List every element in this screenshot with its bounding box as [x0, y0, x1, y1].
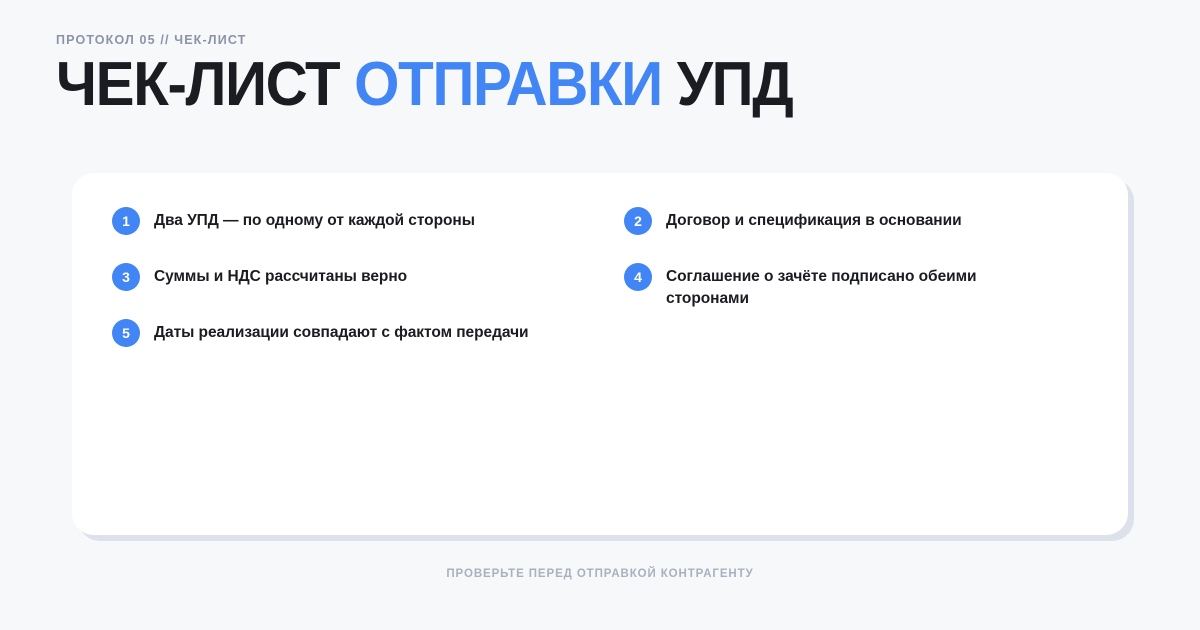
- title-part-one: ЧЕК-ЛИСТ: [56, 50, 354, 119]
- list-item-label: Два УПД — по одному от каждой стороны: [154, 205, 475, 232]
- list-item[interactable]: 2 Договор и спецификация в основании: [624, 205, 1088, 261]
- page-title: ЧЕК-ЛИСТ ОТПРАВКИ УПД: [56, 53, 1081, 117]
- eyebrow-label: ПРОТОКОЛ 05 // ЧЕК-ЛИСТ: [56, 34, 1146, 47]
- title-part-two: УПД: [662, 50, 793, 119]
- checklist-card: 1 Два УПД — по одному от каждой стороны …: [72, 173, 1128, 535]
- checklist-card-wrapper: 1 Два УПД — по одному от каждой стороны …: [72, 173, 1128, 535]
- list-item-label: Суммы и НДС рассчитаны верно: [154, 261, 407, 288]
- list-item[interactable]: 4 Соглашение о зачёте подписано обеими с…: [624, 261, 1088, 317]
- list-item[interactable]: 5 Даты реализации совпадают с фактом пер…: [112, 317, 576, 373]
- step-number-badge: 5: [112, 319, 140, 347]
- step-number-badge: 4: [624, 263, 652, 291]
- list-item[interactable]: 1 Два УПД — по одному от каждой стороны: [112, 205, 576, 261]
- list-item-label: Соглашение о зачёте подписано обеими сто…: [666, 261, 1061, 310]
- footer-note: ПРОВЕРЬТЕ ПЕРЕД ОТПРАВКОЙ КОНТРАГЕНТУ: [0, 569, 1200, 581]
- list-item-label: Договор и спецификация в основании: [666, 205, 962, 232]
- step-number-badge: 3: [112, 263, 140, 291]
- list-item-label: Даты реализации совпадают с фактом перед…: [154, 317, 529, 344]
- title-accent-word: ОТПРАВКИ: [354, 50, 662, 119]
- checklist-items: 1 Два УПД — по одному от каждой стороны …: [112, 205, 1088, 373]
- step-number-badge: 1: [112, 207, 140, 235]
- step-number-badge: 2: [624, 207, 652, 235]
- slide-root: ПРОТОКОЛ 05 // ЧЕК-ЛИСТ ЧЕК-ЛИСТ ОТПРАВК…: [0, 0, 1200, 630]
- header: ПРОТОКОЛ 05 // ЧЕК-ЛИСТ ЧЕК-ЛИСТ ОТПРАВК…: [56, 34, 1146, 117]
- list-item[interactable]: 3 Суммы и НДС рассчитаны верно: [112, 261, 576, 317]
